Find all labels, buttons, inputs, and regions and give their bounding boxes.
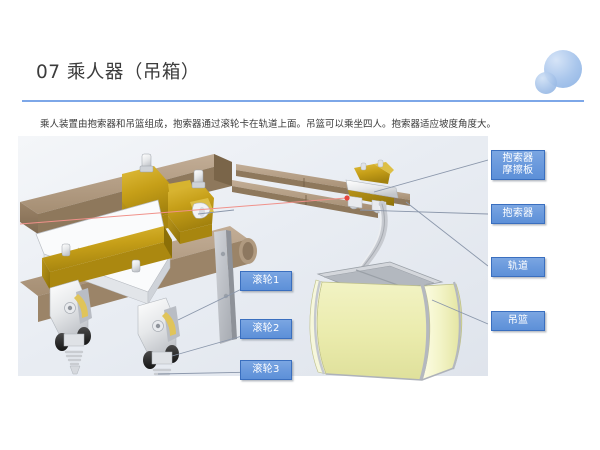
label-cabin[interactable]: 吊篮 bbox=[491, 311, 545, 331]
label-cabin-text: 吊篮 bbox=[508, 315, 529, 326]
slide-canvas: 07 乘人器（吊箱） 乘人装置由抱索器和吊篮组成，抱索器通过滚轮卡在轨道上面。吊… bbox=[0, 0, 600, 450]
label-roller-3[interactable]: 滚轮3 bbox=[240, 360, 292, 380]
label-grip-friction-plate[interactable]: 抱索器 摩擦板 bbox=[491, 150, 545, 180]
label-roller-1[interactable]: 滚轮1 bbox=[240, 271, 292, 291]
label-rail[interactable]: 轨道 bbox=[491, 257, 545, 277]
header-decoration bbox=[522, 42, 594, 104]
label-grip-friction-plate-line1: 抱索器 bbox=[495, 153, 541, 165]
title-divider bbox=[22, 100, 584, 102]
label-grip[interactable]: 抱索器 bbox=[491, 204, 545, 224]
label-roller-1-text: 滚轮1 bbox=[252, 275, 279, 286]
cad-illustration bbox=[18, 136, 488, 384]
label-roller-2-text: 滚轮2 bbox=[252, 323, 279, 334]
blue-circle-large-icon bbox=[544, 50, 582, 88]
label-rail-text: 轨道 bbox=[508, 261, 529, 272]
roller-fork-2 bbox=[138, 298, 180, 374]
page-title: 07 乘人器（吊箱） bbox=[36, 58, 200, 84]
slide-subtitle: 乘人装置由抱索器和吊篮组成，抱索器通过滚轮卡在轨道上面。吊篮可以乘坐四人。抱索器… bbox=[40, 118, 570, 131]
label-roller-3-text: 滚轮3 bbox=[252, 364, 279, 375]
label-grip-friction-plate-line2: 摩擦板 bbox=[495, 165, 541, 177]
label-grip-text: 抱索器 bbox=[503, 208, 534, 219]
blue-circle-small-icon bbox=[535, 72, 557, 94]
label-roller-2[interactable]: 滚轮2 bbox=[240, 319, 292, 339]
